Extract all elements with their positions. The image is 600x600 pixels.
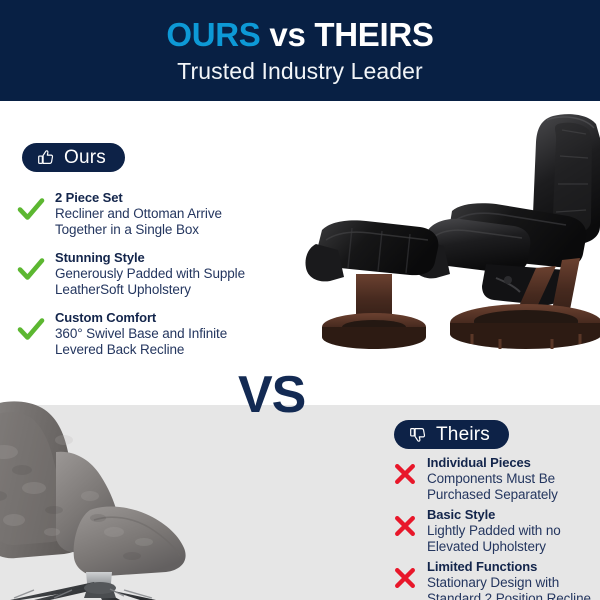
comparison-infographic: OURS vs THEIRS Trusted Industry Leader xyxy=(0,0,600,600)
x-icon xyxy=(392,513,418,539)
feature-heading: Custom Comfort xyxy=(55,310,276,325)
feature-item: 2 Piece Set Recliner and Ottoman Arrive … xyxy=(16,190,276,237)
x-icon xyxy=(392,565,418,591)
feature-heading: Stunning Style xyxy=(55,250,276,265)
black-leather-recliner-image xyxy=(300,108,600,360)
thumbs-up-icon xyxy=(36,148,55,167)
feature-heading: Basic Style xyxy=(427,507,597,522)
feature-body: Components Must Be Purchased Separately xyxy=(427,471,597,502)
header-banner: OURS vs THEIRS Trusted Industry Leader xyxy=(0,0,600,101)
title-ours: OURS xyxy=(166,16,260,53)
feature-body: Lightly Padded with no Elevated Upholste… xyxy=(427,523,597,554)
feature-item: Basic Style Lightly Padded with no Eleva… xyxy=(392,507,597,554)
check-icon xyxy=(16,254,46,284)
feature-heading: 2 Piece Set xyxy=(55,190,276,205)
theirs-badge-label: Theirs xyxy=(436,425,490,444)
page-title: OURS vs THEIRS xyxy=(166,18,433,51)
title-theirs: THEIRS xyxy=(314,16,433,53)
page-subtitle: Trusted Industry Leader xyxy=(177,60,423,83)
feature-heading: Individual Pieces xyxy=(427,455,597,470)
theirs-feature-list: Individual Pieces Components Must Be Pur… xyxy=(392,455,597,600)
feature-item: Custom Comfort 360° Swivel Base and Infi… xyxy=(16,310,276,357)
feature-body: 360° Swivel Base and Infinite Levered Ba… xyxy=(55,326,276,357)
check-icon xyxy=(16,194,46,224)
ours-badge-label: Ours xyxy=(64,148,106,167)
theirs-badge: Theirs xyxy=(394,420,509,449)
gray-fabric-swivel-chair-image xyxy=(0,392,264,600)
x-icon xyxy=(392,461,418,487)
feature-item: Stunning Style Generously Padded with Su… xyxy=(16,250,276,297)
feature-body: Stationary Design with Standard 2 Positi… xyxy=(427,575,597,600)
feature-heading: Limited Functions xyxy=(427,559,597,574)
feature-body: Generously Padded with Supple LeatherSof… xyxy=(55,266,276,297)
thumbs-down-icon xyxy=(408,425,427,444)
title-vs: vs xyxy=(269,16,305,53)
check-icon xyxy=(16,314,46,344)
feature-item: Limited Functions Stationary Design with… xyxy=(392,559,597,600)
ours-badge: Ours xyxy=(22,143,125,172)
vs-divider-label: VS xyxy=(238,369,305,421)
ours-feature-list: 2 Piece Set Recliner and Ottoman Arrive … xyxy=(16,190,276,370)
feature-body: Recliner and Ottoman Arrive Together in … xyxy=(55,206,276,237)
feature-item: Individual Pieces Components Must Be Pur… xyxy=(392,455,597,502)
